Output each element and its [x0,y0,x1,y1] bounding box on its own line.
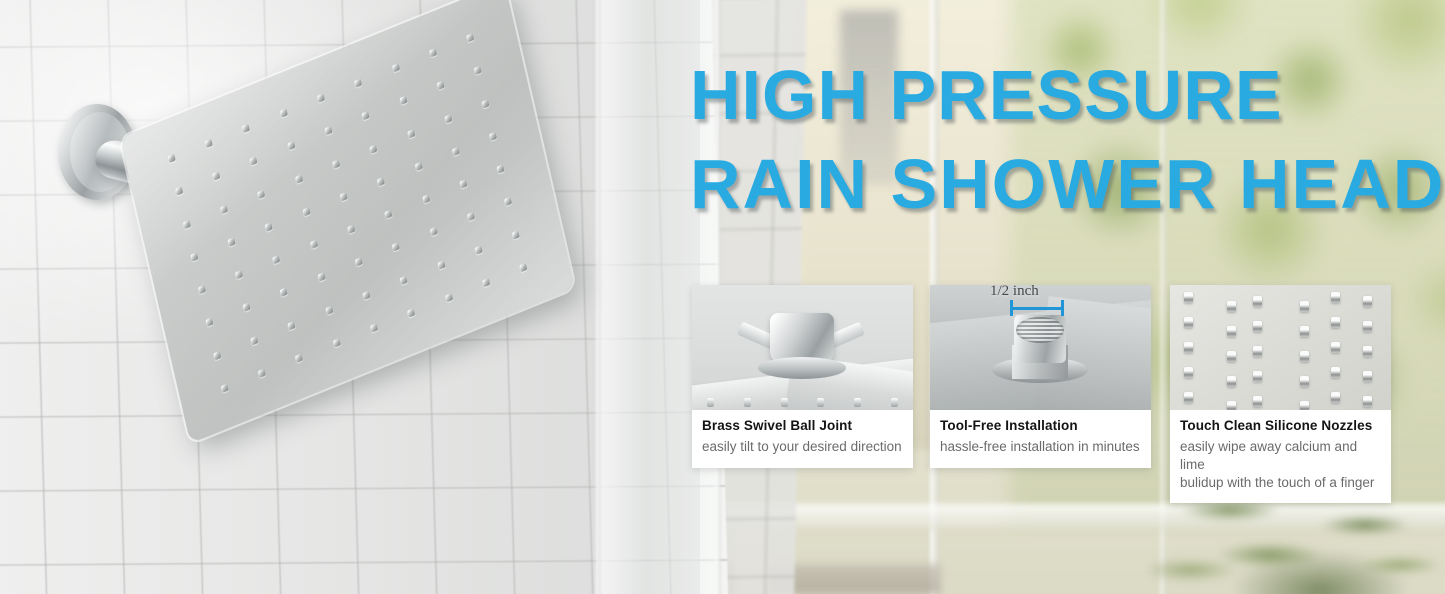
banner-headline: HIGH PRESSURE RAIN SHOWER HEAD [690,62,1330,218]
dimension-bar [1010,307,1064,310]
card-subtitle: hassle-free installation in minutes [940,438,1141,456]
headline-line-2: RAIN SHOWER HEAD [690,151,1330,218]
card-subtitle: easily tilt to your desired direction [702,438,903,456]
feature-card-tool-free-installation[interactable]: 1/2 inch Tool-Free Installation hassle-f… [930,285,1151,468]
swivel-ball-joint-photo [692,285,913,410]
shower-head-nozzle-grid [149,14,546,412]
dimension-label: 1/2 inch [990,285,1039,300]
feature-card-brass-swivel-ball-joint[interactable]: Brass Swivel Ball Joint easily tilt to y… [692,285,913,468]
card-title: Brass Swivel Ball Joint [702,418,903,433]
shower-head-product [0,0,660,470]
silicone-nozzles-photo [1170,285,1391,410]
product-banner: HIGH PRESSURE RAIN SHOWER HEAD Brass Swi… [0,0,1445,594]
card-caption: Touch Clean Silicone Nozzles easily wipe… [1170,410,1391,503]
shower-head-face [120,0,575,444]
headline-line-1: HIGH PRESSURE [690,62,1330,129]
card-caption: Brass Swivel Ball Joint easily tilt to y… [692,410,913,468]
threaded-inlet-photo: 1/2 inch [930,285,1151,410]
card-subtitle: easily wipe away calcium and lime bulidu… [1180,438,1381,491]
card-subtitle-line-2: bulidup with the touch of a finger [1180,475,1374,490]
card-caption: Tool-Free Installation hassle-free insta… [930,410,1151,468]
card-title: Touch Clean Silicone Nozzles [1180,418,1381,433]
shower-head-plate [120,0,575,444]
card-subtitle-line-1: easily wipe away calcium and lime [1180,439,1357,472]
feature-card-touch-clean-silicone-nozzles[interactable]: Touch Clean Silicone Nozzles easily wipe… [1170,285,1391,503]
card-title: Tool-Free Installation [940,418,1141,433]
